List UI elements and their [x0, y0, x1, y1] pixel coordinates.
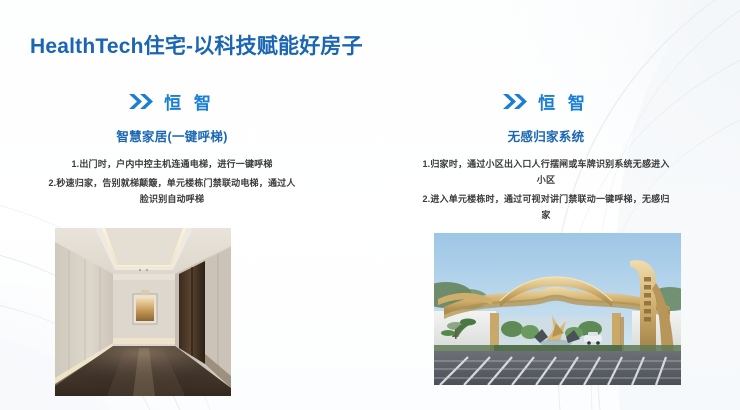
bullet-item: 1.出门时，户内中控主机连通电梯，进行一键呼梯	[22, 156, 322, 172]
bullet-item: 2.进入单元楼栋时，通过可视对讲门禁联动一键呼梯，无感归家	[396, 191, 696, 223]
bullet-item: 1.归家时，通过小区出入口人行摆闸或车牌识别系统无感进入小区	[396, 156, 696, 188]
feature-column-entry-system: 恒 智 无感归家系统 1.归家时，通过小区出入口人行摆闸或车牌识别系统无感进入小…	[396, 88, 696, 223]
bullet-item: 2.秒速归家，告别就梯颠簸，单元楼栋门禁联动电梯，通过人脸识别自动呼梯	[22, 175, 322, 207]
elevator-lobby-photo	[55, 228, 231, 396]
brand-name-label: 恒 智	[162, 89, 215, 114]
slide-canvas: HealthTech住宅-以科技赋能好房子 恒 智 智慧家居(一键呼梯) 1.出…	[0, 0, 740, 410]
feature-subtitle-right: 无感归家系统	[396, 126, 696, 145]
brand-heading-right: 恒 智	[396, 88, 696, 114]
feature-bullets-right: 1.归家时，通过小区出入口人行摆闸或车牌识别系统无感进入小区 2.进入单元楼栋时…	[396, 156, 696, 223]
brand-heading-left: 恒 智	[22, 88, 322, 114]
feature-subtitle-left: 智慧家居(一键呼梯)	[22, 126, 322, 145]
brand-name-label: 恒 智	[536, 89, 589, 114]
feature-bullets-left: 1.出门时，户内中控主机连通电梯，进行一键呼梯 2.秒速归家，告别就梯颠簸，单元…	[22, 156, 322, 207]
double-chevron-right-icon	[503, 93, 529, 110]
community-entrance-gate-photo	[434, 233, 681, 385]
page-title: HealthTech住宅-以科技赋能好房子	[30, 30, 363, 60]
feature-column-smart-home: 恒 智 智慧家居(一键呼梯) 1.出门时，户内中控主机连通电梯，进行一键呼梯 2…	[22, 88, 322, 207]
double-chevron-right-icon	[129, 93, 155, 110]
